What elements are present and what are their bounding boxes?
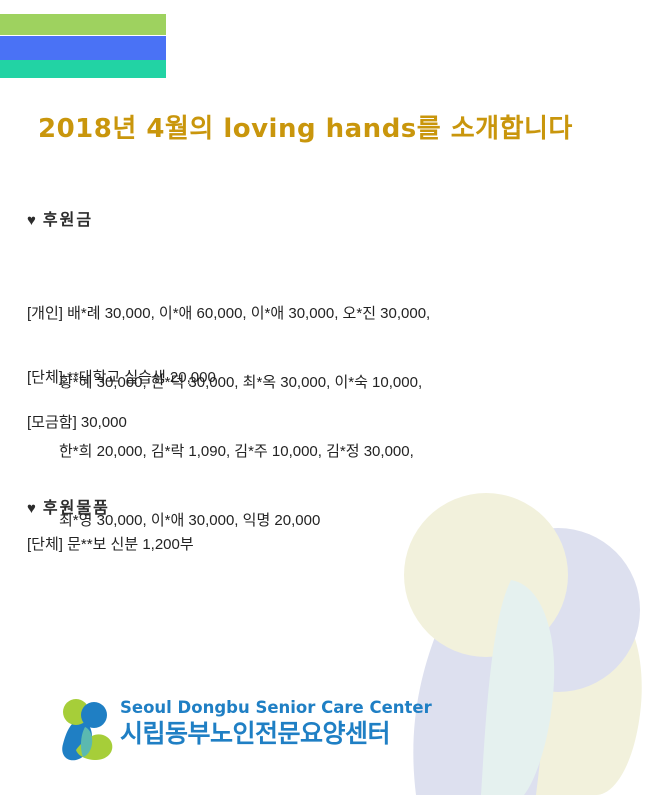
footer-logo: Seoul Dongbu Senior Care Center 시립동부노인전문… bbox=[52, 694, 382, 766]
section-heading-donation: ♥후원금 bbox=[27, 206, 93, 230]
donation-individual-line-3: 한*희 20,000, 김*락 1,090, 김*주 10,000, 김*정 3… bbox=[27, 440, 430, 463]
heart-icon: ♥ bbox=[27, 212, 36, 229]
heart-icon: ♥ bbox=[27, 500, 36, 517]
document-body: 2018년 4월의 loving hands를 소개합니다 ♥후원금 [개인] … bbox=[0, 0, 672, 793]
care-center-logo-mark bbox=[52, 696, 124, 764]
section-heading-donation-label: 후원금 bbox=[43, 212, 93, 229]
section-heading-goods: ♥후원물품 bbox=[27, 494, 110, 518]
logo-english-name: Seoul Dongbu Senior Care Center bbox=[120, 694, 382, 718]
donation-box-line: [모금함] 30,000 bbox=[27, 411, 127, 434]
logo-korean-name: 시립동부노인전문요양센터 bbox=[120, 718, 382, 750]
logo-blue-circle bbox=[81, 702, 107, 728]
page-title: 2018년 4월의 loving hands를 소개합니다 bbox=[38, 108, 573, 145]
donation-group-line: [단체] **대학교 실습생 20,000 bbox=[27, 366, 216, 389]
donation-individual-line-1: [개인] 배*례 30,000, 이*애 60,000, 이*애 30,000,… bbox=[27, 302, 430, 325]
section-heading-goods-label: 후원물품 bbox=[43, 500, 110, 517]
logo-text-block: Seoul Dongbu Senior Care Center 시립동부노인전문… bbox=[120, 694, 382, 750]
goods-group-line: [단체] 문**보 신분 1,200부 bbox=[27, 533, 194, 556]
